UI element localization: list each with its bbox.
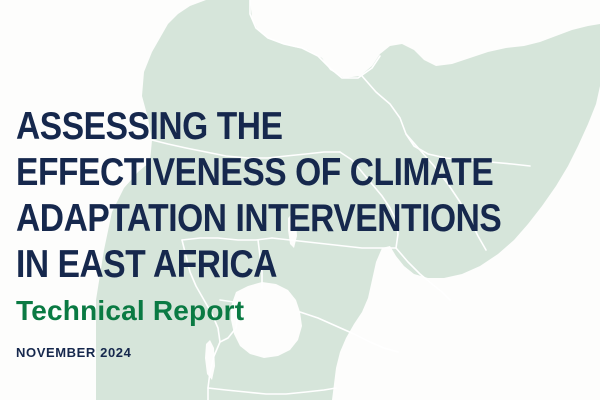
page-subtitle: Technical Report [16,294,586,328]
page-title-line-4: IN EAST AFRICA [16,242,506,288]
publication-date: NOVEMBER 2024 [16,344,586,362]
report-cover: ASSESSING THE EFFECTIVENESS OF CLIMATE A… [0,0,600,400]
page-title-line-3: ADAPTATION INTERVENTIONS [16,196,506,242]
cover-text-block: ASSESSING THE EFFECTIVENESS OF CLIMATE A… [16,104,586,362]
page-title-line-1: ASSESSING THE [16,104,506,150]
page-title-line-2: EFFECTIVENESS OF CLIMATE [16,150,506,196]
